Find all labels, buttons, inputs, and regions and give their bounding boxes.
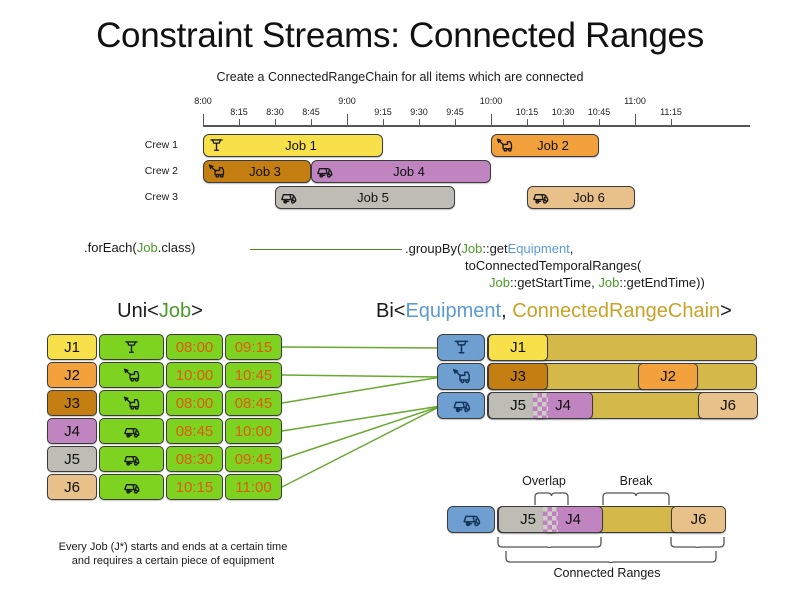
gantt-tick-mark bbox=[347, 114, 348, 126]
dump-truck-icon bbox=[99, 474, 164, 500]
break-brace bbox=[602, 492, 670, 506]
gantt-tick-mark bbox=[671, 119, 672, 126]
drill-rig-icon bbox=[437, 334, 485, 361]
gantt-tick-mark bbox=[419, 119, 420, 126]
groupby-pre: .groupBy( bbox=[405, 241, 461, 256]
drill-rig-icon bbox=[99, 334, 164, 360]
gantt-job-bar[interactable]: Job 3 bbox=[203, 160, 311, 183]
gantt-job-bar[interactable]: Job 4 bbox=[311, 160, 491, 183]
gantt-job-label: Job 1 bbox=[226, 138, 382, 153]
gantt-tick-label: 8:00 bbox=[194, 96, 212, 106]
gantt-tick-label: 11:00 bbox=[624, 96, 646, 106]
code-connector-line bbox=[250, 249, 402, 250]
groupby-post1: , bbox=[570, 241, 574, 256]
gantt-job-label: Job 3 bbox=[226, 164, 310, 179]
gantt-tick-mark bbox=[311, 119, 312, 126]
page-subtitle: Create a ConnectedRangeChain for all ite… bbox=[0, 70, 800, 84]
page-title: Constraint Streams: Connected Ranges bbox=[0, 16, 800, 56]
groupby-kw-job3: Job bbox=[598, 275, 619, 290]
gantt-tick-mark bbox=[491, 114, 492, 126]
gantt-tick-mark bbox=[635, 114, 636, 126]
dump-truck-icon bbox=[99, 446, 164, 472]
connected-range-chain: J5J4J6 bbox=[487, 392, 757, 419]
connected-range-chain: J3J2 bbox=[487, 363, 757, 390]
uni-end-time-cell: 09:45 bbox=[225, 446, 282, 472]
gantt-tick-label: 10:15 bbox=[516, 107, 539, 117]
crane-truck-icon bbox=[437, 363, 485, 390]
gantt-job-bar[interactable]: Job 2 bbox=[491, 134, 599, 157]
gantt-tick-mark bbox=[383, 119, 384, 126]
connected-ranges-brace bbox=[505, 550, 717, 563]
gantt-tick-label: 10:00 bbox=[480, 96, 503, 106]
bi-job-block[interactable]: J3 bbox=[488, 363, 548, 390]
uni-header: Uni<Job> bbox=[40, 300, 280, 323]
connected-ranges-label: Connected Ranges bbox=[487, 566, 727, 580]
groupby-line1: .groupBy(Job::getEquipment, bbox=[405, 241, 573, 256]
gantt-job-label: Job 6 bbox=[550, 190, 634, 205]
gantt-job-label: Job 2 bbox=[514, 138, 598, 153]
overlap-region bbox=[533, 392, 548, 419]
gantt-job-label: Job 5 bbox=[298, 190, 454, 205]
uni-end-time-cell: 09:15 bbox=[225, 334, 282, 360]
groupby-line3: Job::getStartTime, Job::getEndTime)) bbox=[405, 274, 705, 291]
gantt-crew-label: Crew 3 bbox=[118, 191, 178, 203]
connected-range-chain: J1 bbox=[487, 334, 757, 361]
uni-end-time-cell: 11:00 bbox=[225, 474, 282, 500]
groupby-line2: toConnectedTemporalRanges( bbox=[405, 257, 705, 274]
overlap-label: Overlap bbox=[504, 474, 584, 488]
groupby-kw-equipment: Equipment bbox=[508, 241, 570, 256]
gantt-chart: 8:008:158:308:459:009:159:309:4510:0010:… bbox=[0, 96, 800, 216]
footnote-line-2: and requires a certain piece of equipmen… bbox=[8, 554, 338, 568]
uni-start-time-cell: 10:00 bbox=[166, 362, 223, 388]
gantt-tick-label: 9:15 bbox=[374, 107, 392, 117]
gantt-tick-label: 11:15 bbox=[660, 107, 682, 117]
uni-end-time-cell: 10:45 bbox=[225, 362, 282, 388]
groupby-mid1: ::get bbox=[482, 241, 507, 256]
gantt-tick-label: 8:15 bbox=[230, 107, 248, 117]
groupby-post2: ::getEndTime)) bbox=[619, 275, 705, 290]
foreach-pre: .forEach( bbox=[84, 240, 137, 255]
uni-start-time-cell: 10:15 bbox=[166, 474, 223, 500]
foreach-expression: .forEach(Job.class) bbox=[84, 240, 195, 255]
groupby-kw-job2: Job bbox=[489, 275, 510, 290]
gantt-tick-label: 8:45 bbox=[302, 107, 320, 117]
gantt-tick-mark bbox=[563, 119, 564, 126]
bi-job-block[interactable]: J6 bbox=[698, 392, 758, 419]
gantt-tick-label: 9:30 bbox=[410, 107, 428, 117]
uni-end-time-cell: 08:45 bbox=[225, 390, 282, 416]
gantt-crew-label: Crew 1 bbox=[118, 139, 178, 151]
uni-start-time-cell: 08:00 bbox=[166, 334, 223, 360]
uni-job-id-cell: J6 bbox=[47, 474, 97, 500]
code-annotation: .forEach(Job.class) .groupBy(Job::getEqu… bbox=[0, 232, 800, 298]
bi-header-kw-chain: ConnectedRangeChain bbox=[512, 300, 720, 322]
gantt-tick-label: 10:45 bbox=[588, 107, 611, 117]
bi-job-block[interactable]: J2 bbox=[638, 363, 698, 390]
dump-truck-icon bbox=[99, 418, 164, 444]
dump-truck-icon bbox=[279, 188, 298, 207]
footnote: Every Job (J*) starts and ends at a cert… bbox=[8, 540, 338, 568]
dump-truck-icon bbox=[447, 506, 495, 533]
gantt-tick-mark bbox=[239, 119, 240, 126]
connected-ranges-detail: J5J4J6OverlapBreakConnected Ranges bbox=[447, 470, 767, 590]
uni-header-post: > bbox=[191, 300, 203, 322]
groupby-kw-job1: Job bbox=[461, 241, 482, 256]
uni-job-id-cell: J2 bbox=[47, 362, 97, 388]
gantt-tick-mark bbox=[599, 119, 600, 126]
gantt-tick-mark bbox=[527, 119, 528, 126]
gantt-tick-mark bbox=[275, 119, 276, 126]
crane-truck-icon bbox=[99, 390, 164, 416]
gantt-tick-mark bbox=[455, 119, 456, 126]
uni-job-id-cell: J1 bbox=[47, 334, 97, 360]
gantt-job-bar[interactable]: Job 5 bbox=[275, 186, 455, 209]
uni-job-id-cell: J4 bbox=[47, 418, 97, 444]
crane-truck-icon bbox=[99, 362, 164, 388]
gantt-axis-line bbox=[203, 125, 750, 127]
break-label: Break bbox=[582, 474, 690, 488]
gantt-job-bar[interactable]: Job 1 bbox=[203, 134, 383, 157]
gantt-tick-label: 9:00 bbox=[338, 96, 356, 106]
overlap-brace bbox=[534, 492, 569, 506]
groupby-mid2: ::getStartTime, bbox=[510, 275, 598, 290]
gantt-tick-label: 9:45 bbox=[446, 107, 464, 117]
drill-rig-icon bbox=[207, 136, 226, 155]
crane-truck-icon bbox=[207, 162, 226, 181]
uni-header-pre: Uni< bbox=[117, 300, 159, 322]
gantt-tick-label: 10:30 bbox=[552, 107, 575, 117]
uni-start-time-cell: 08:00 bbox=[166, 390, 223, 416]
overlap-region bbox=[543, 506, 558, 533]
bi-header-sep: , bbox=[501, 300, 512, 322]
bi-header-pre: Bi< bbox=[376, 300, 405, 322]
dump-truck-icon bbox=[315, 162, 334, 181]
connected-range-2-brace bbox=[670, 536, 725, 548]
uni-header-keyword: Job bbox=[159, 300, 191, 322]
crane-truck-icon bbox=[495, 136, 514, 155]
gantt-tick-mark bbox=[203, 114, 204, 126]
uni-start-time-cell: 08:45 bbox=[166, 418, 223, 444]
uni-job-id-cell: J5 bbox=[47, 446, 97, 472]
footnote-line-1: Every Job (J*) starts and ends at a cert… bbox=[8, 540, 338, 554]
uni-job-id-cell: J3 bbox=[47, 390, 97, 416]
connected-range-1-brace bbox=[497, 536, 602, 548]
dump-truck-icon bbox=[531, 188, 550, 207]
gantt-tick-label: 8:30 bbox=[266, 107, 284, 117]
dump-truck-icon bbox=[437, 392, 485, 419]
bi-job-block[interactable]: J6 bbox=[671, 506, 726, 533]
foreach-keyword: Job bbox=[137, 240, 158, 255]
bi-header-post: > bbox=[720, 300, 732, 322]
gantt-job-bar[interactable]: Job 6 bbox=[527, 186, 635, 209]
gantt-job-label: Job 4 bbox=[334, 164, 490, 179]
uni-end-time-cell: 10:00 bbox=[225, 418, 282, 444]
uni-start-time-cell: 08:30 bbox=[166, 446, 223, 472]
bi-header: Bi<Equipment, ConnectedRangeChain> bbox=[370, 300, 800, 323]
bi-header-kw-equipment: Equipment bbox=[405, 300, 501, 322]
bi-job-block[interactable]: J1 bbox=[488, 334, 548, 361]
groupby-expression: .groupBy(Job::getEquipment, toConnectedT… bbox=[405, 240, 705, 291]
foreach-post: .class) bbox=[158, 240, 196, 255]
gantt-crew-label: Crew 2 bbox=[118, 165, 178, 177]
connected-range-chain-detail: J5J4J6 bbox=[497, 506, 725, 533]
